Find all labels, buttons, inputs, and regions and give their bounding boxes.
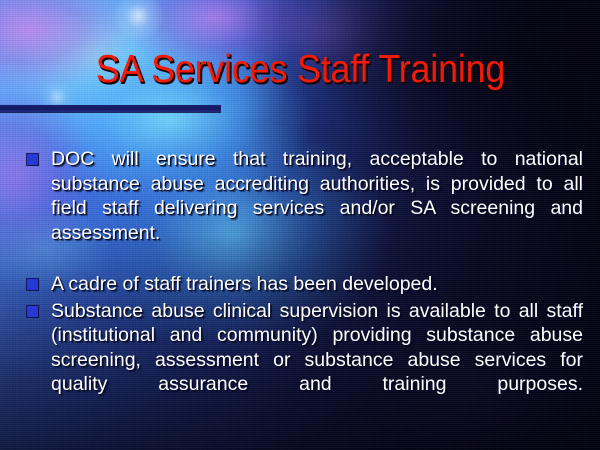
blue-square-bullet-icon xyxy=(27,306,38,317)
bullet-item: A cadre of staff trainers has been devel… xyxy=(27,272,583,297)
blue-square-bullet-icon xyxy=(27,154,38,165)
presentation-slide: SA Services Staff Training DOC will ensu… xyxy=(0,0,600,450)
bullet-item: Substance abuse clinical supervision is … xyxy=(27,299,583,422)
bullet-text: Substance abuse clinical supervision is … xyxy=(51,299,583,422)
blue-square-bullet-icon xyxy=(27,279,38,290)
slide-title: SA Services Staff Training xyxy=(95,47,504,92)
slide-body: DOC will ensure that training, acceptabl… xyxy=(27,147,583,424)
bullet-text: A cadre of staff trainers has been devel… xyxy=(51,272,583,297)
bullet-item: DOC will ensure that training, acceptabl… xyxy=(27,147,583,270)
bullet-text: DOC will ensure that training, acceptabl… xyxy=(51,147,583,270)
title-block: SA Services Staff Training xyxy=(0,47,600,92)
title-divider-rule xyxy=(0,105,221,112)
